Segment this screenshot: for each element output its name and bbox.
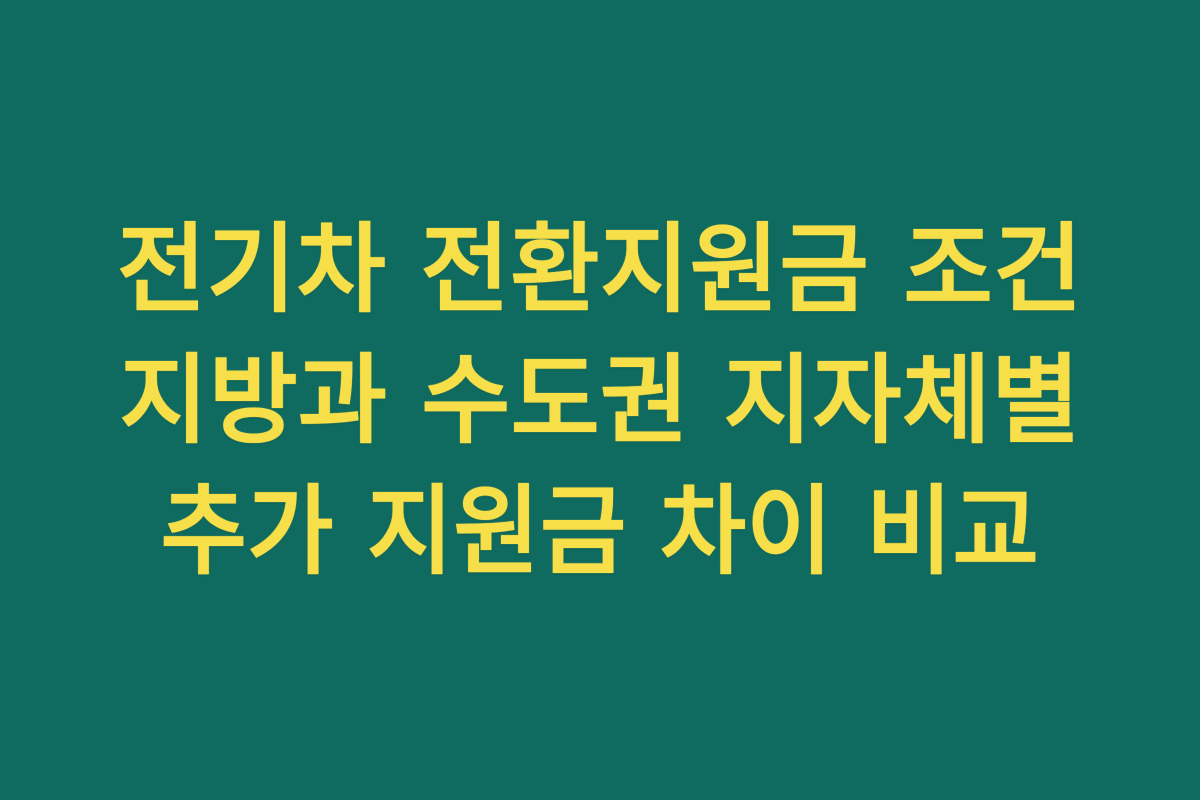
headline-line-2: 지방과 수도권 지자체별 — [3, 335, 1197, 466]
headline-line-3: 추가 지원금 차이 비교 — [21, 466, 1179, 597]
headline-line-1: 전기차 전환지원금 조건 — [0, 204, 1200, 335]
thumbnail-card: 전기차 전환지원금 조건 지방과 수도권 지자체별 추가 지원금 차이 비교 — [0, 0, 1200, 800]
page-title: 전기차 전환지원금 조건 지방과 수도권 지자체별 추가 지원금 차이 비교 — [0, 204, 1200, 597]
